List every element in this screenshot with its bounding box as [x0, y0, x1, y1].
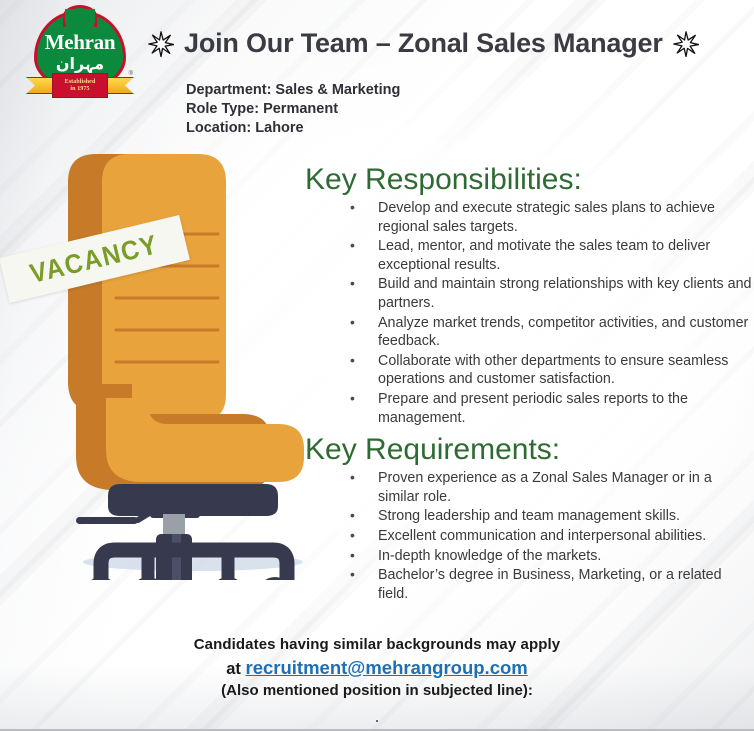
- list-item: Build and maintain strong relationships …: [350, 275, 754, 312]
- sparkle-star-icon-right: [673, 31, 699, 57]
- list-item: Strong leadership and team management sk…: [350, 507, 754, 526]
- footer-trailing-dot: .: [0, 710, 754, 725]
- key-requirements-heading: Key Requirements:: [305, 433, 754, 467]
- meta-location: Location: Lahore: [186, 119, 400, 138]
- list-item: Collaborate with other departments to en…: [350, 352, 754, 389]
- job-details-content: Key Responsibilities: Develop and execut…: [305, 163, 754, 604]
- mehran-logo: Mehran مہران Established in 1975 ®: [26, 11, 134, 107]
- poster-title-row: Join Our Team – Zonal Sales Manager: [148, 28, 699, 59]
- logo-brand-latin: Mehran: [37, 30, 123, 55]
- logo-established-line1: Established: [65, 79, 96, 85]
- logo-ribbon-center: Established in 1975: [52, 73, 108, 98]
- list-item: Analyze market trends, competitor activi…: [350, 314, 754, 351]
- key-responsibilities-section: Key Responsibilities: Develop and execut…: [305, 163, 754, 427]
- meta-department: Department: Sales & Marketing: [186, 81, 400, 100]
- key-responsibilities-list: Develop and execute strategic sales plan…: [305, 199, 754, 427]
- logo-established-line2: in 1975: [70, 86, 89, 92]
- list-item: Bachelor’s degree in Business, Marketing…: [350, 566, 754, 603]
- list-item: Prepare and present periodic sales repor…: [350, 390, 754, 427]
- list-item: In-depth knowledge of the markets.: [350, 547, 754, 566]
- recruitment-email-link[interactable]: recruitment@mehrangroup.com: [246, 657, 528, 678]
- apply-email-line: at recruitment@mehrangroup.com: [0, 657, 754, 679]
- key-responsibilities-heading: Key Responsibilities:: [305, 163, 754, 197]
- page-title: Join Our Team – Zonal Sales Manager: [184, 28, 663, 59]
- key-requirements-section: Key Requirements: Proven experience as a…: [305, 433, 754, 603]
- office-chair-illustration: VACANCY: [46, 148, 326, 580]
- list-item: Lead, mentor, and motivate the sales tea…: [350, 237, 754, 274]
- apply-email-prefix: at: [226, 660, 245, 678]
- meta-role-type: Role Type: Permanent: [186, 100, 400, 119]
- logo-brand-urdu: مہران: [37, 54, 123, 73]
- list-item: Develop and execute strategic sales plan…: [350, 199, 754, 236]
- subject-line-note: (Also mentioned position in subjected li…: [0, 682, 754, 699]
- chair-backrest: [102, 154, 226, 422]
- job-posting-poster: Mehran مہران Established in 1975 ® Join …: [0, 0, 754, 731]
- apply-instruction-line: Candidates having similar backgrounds ma…: [0, 636, 754, 653]
- job-meta-block: Department: Sales & Marketing Role Type:…: [186, 81, 400, 138]
- list-item: Excellent communication and interpersona…: [350, 527, 754, 546]
- logo-ribbon: Established in 1975: [26, 73, 134, 99]
- poster-header: Mehran مہران Established in 1975 ® Join …: [0, 0, 754, 150]
- key-requirements-list: Proven experience as a Zonal Sales Manag…: [305, 469, 754, 603]
- chair-height-lever: [76, 517, 138, 524]
- sparkle-star-icon-left: [148, 31, 174, 57]
- poster-footer: Candidates having similar backgrounds ma…: [0, 636, 754, 725]
- logo-trademark-symbol: ®: [129, 71, 133, 77]
- list-item: Proven experience as a Zonal Sales Manag…: [350, 469, 754, 506]
